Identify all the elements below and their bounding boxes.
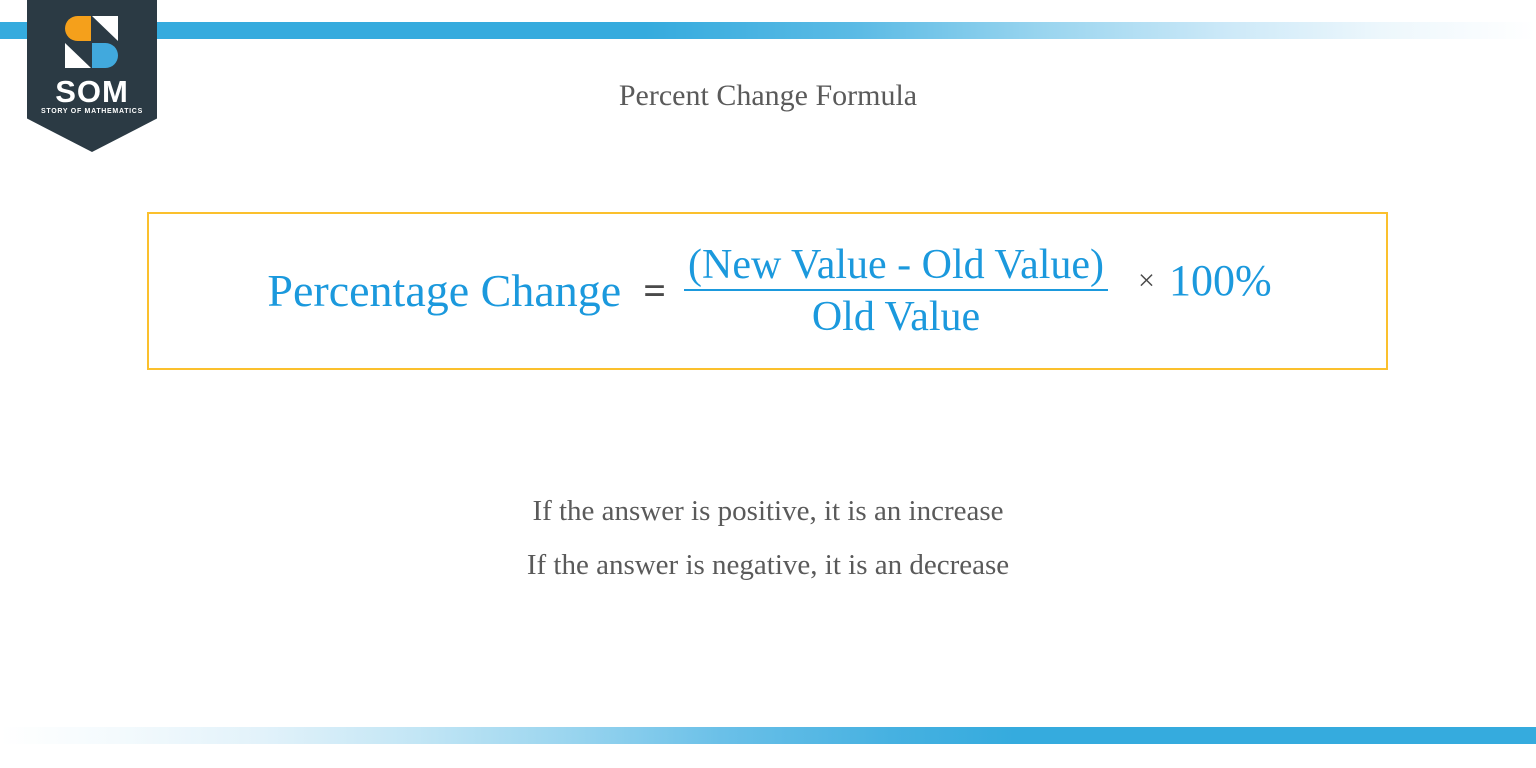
formula-numerator: (New Value - Old Value) — [684, 243, 1108, 289]
logo-triangle-bottom-left-icon — [65, 43, 91, 68]
bottom-accent-bar — [0, 727, 1536, 744]
formula-multiplier: 100% — [1169, 259, 1272, 303]
notes-block: If the answer is positive, it is an incr… — [0, 484, 1536, 592]
logo-tagline: STORY OF MATHEMATICS — [27, 108, 157, 115]
formula-left-hand-side: Percentage Change — [267, 268, 621, 314]
som-logo-mark-icon — [65, 16, 119, 68]
formula-denominator: Old Value — [684, 291, 1108, 339]
formula-fraction: (New Value - Old Value) Old Value — [684, 243, 1108, 339]
formula-expression: Percentage Change = (New Value - Old Val… — [149, 214, 1386, 368]
som-logo: SOM STORY OF MATHEMATICS — [27, 0, 157, 152]
formula-multiply-sign: × — [1138, 266, 1155, 296]
note-line-positive: If the answer is positive, it is an incr… — [0, 484, 1536, 538]
logo-quarter-orange-icon — [65, 16, 91, 41]
formula-box: Percentage Change = (New Value - Old Val… — [147, 212, 1388, 370]
logo-wordmark: SOM — [27, 76, 157, 107]
logo-triangle-top-right-icon — [92, 16, 118, 41]
formula-equals-sign: = — [643, 271, 666, 311]
logo-quarter-blue-icon — [92, 43, 118, 68]
note-line-negative: If the answer is negative, it is an decr… — [0, 538, 1536, 592]
page-title: Percent Change Formula — [0, 78, 1536, 114]
top-accent-bar — [0, 22, 1536, 39]
